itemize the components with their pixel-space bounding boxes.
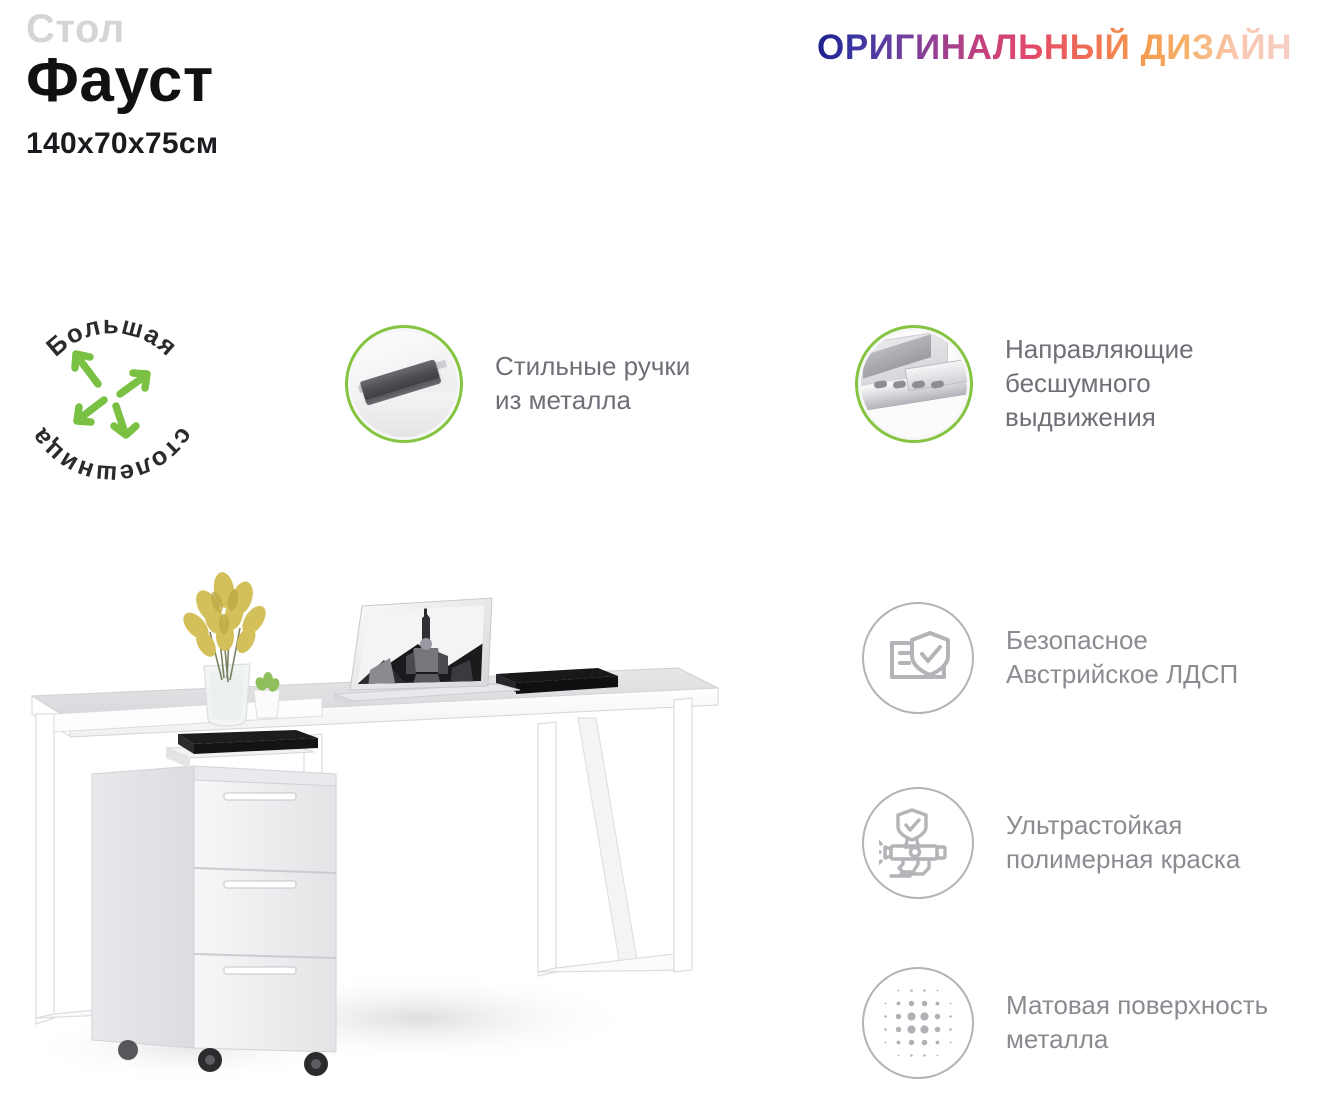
product-category-label: Стол bbox=[26, 8, 218, 50]
feature-metal-handles: Стильные ручки из металла bbox=[345, 325, 695, 443]
feature-label: Безопасное Австрийское ЛДСП bbox=[1006, 624, 1266, 692]
big-tabletop-badge: Большая столешница bbox=[12, 288, 212, 488]
badge-word-bottom: столешница bbox=[25, 423, 198, 488]
original-design-headline: ОРИГИНАЛЬНЫЙ ДИЗАЙН bbox=[817, 28, 1292, 68]
product-dimensions: 140x70x75см bbox=[26, 127, 218, 161]
feature-matte-metal: Матовая поверхность металла bbox=[862, 967, 1286, 1079]
metal-handle-photo bbox=[345, 325, 463, 443]
infographic-canvas: Стол Фауст 140x70x75см ОРИГИНАЛЬНЫЙ ДИЗА… bbox=[0, 0, 1320, 1100]
feature-polymer-paint: Ультрастойкая полимерная краска bbox=[862, 787, 1266, 899]
page-title: Фауст bbox=[26, 48, 218, 113]
feature-silent-slides: Направляющие бесшумного выдвижения bbox=[855, 325, 1305, 443]
svg-text:столешница: столешница bbox=[25, 423, 198, 488]
svg-text:Большая: Большая bbox=[41, 311, 183, 362]
dot-matrix-texture-icon bbox=[862, 967, 974, 1079]
header-block: Стол Фауст 140x70x75см bbox=[26, 8, 218, 161]
feature-label: Ультрастойкая полимерная краска bbox=[1006, 809, 1266, 877]
drawer-slide-photo bbox=[855, 325, 973, 443]
product-photo-desk bbox=[18, 548, 758, 1100]
badge-word-top: Большая bbox=[41, 311, 183, 362]
certificate-shield-icon bbox=[862, 602, 974, 714]
expand-arrows-icon bbox=[75, 354, 147, 435]
feature-label: Стильные ручки из металла bbox=[495, 350, 695, 418]
feature-label: Матовая поверхность металла bbox=[1006, 989, 1286, 1057]
feature-austrian-board: Безопасное Австрийское ЛДСП bbox=[862, 602, 1266, 714]
feature-label: Направляющие бесшумного выдвижения bbox=[1005, 333, 1305, 434]
spray-gun-shield-icon bbox=[862, 787, 974, 899]
